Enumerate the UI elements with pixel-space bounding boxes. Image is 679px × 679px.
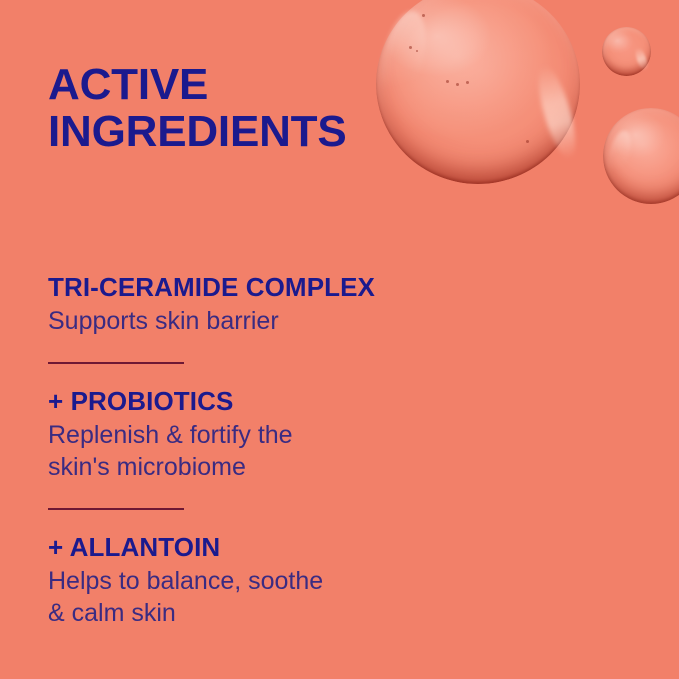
section-divider bbox=[48, 508, 184, 510]
ingredient-item-tri-ceramide-complex: TRI-CERAMIDE COMPLEX Supports skin barri… bbox=[48, 272, 468, 338]
ingredient-item-allantoin: + ALLANTOIN Helps to balance, soothe & c… bbox=[48, 532, 468, 630]
content-layer: ACTIVE INGREDIENTS TRI-CERAMIDE COMPLEX … bbox=[0, 0, 679, 679]
ingredient-description: Supports skin barrier bbox=[48, 305, 468, 338]
ingredient-name: TRI-CERAMIDE COMPLEX bbox=[48, 272, 468, 302]
page-title: ACTIVE INGREDIENTS bbox=[48, 62, 378, 155]
ingredient-list: TRI-CERAMIDE COMPLEX Supports skin barri… bbox=[48, 272, 468, 630]
ingredient-description: Replenish & fortify the skin's microbiom… bbox=[48, 419, 468, 484]
ingredient-item-probiotics: + PROBIOTICS Replenish & fortify the ski… bbox=[48, 386, 468, 484]
section-divider bbox=[48, 362, 184, 364]
ingredient-description: Helps to balance, soothe & calm skin bbox=[48, 565, 468, 630]
active-ingredients-panel: ACTIVE INGREDIENTS TRI-CERAMIDE COMPLEX … bbox=[0, 0, 679, 679]
ingredient-name: + PROBIOTICS bbox=[48, 386, 468, 416]
ingredient-name: + ALLANTOIN bbox=[48, 532, 468, 562]
